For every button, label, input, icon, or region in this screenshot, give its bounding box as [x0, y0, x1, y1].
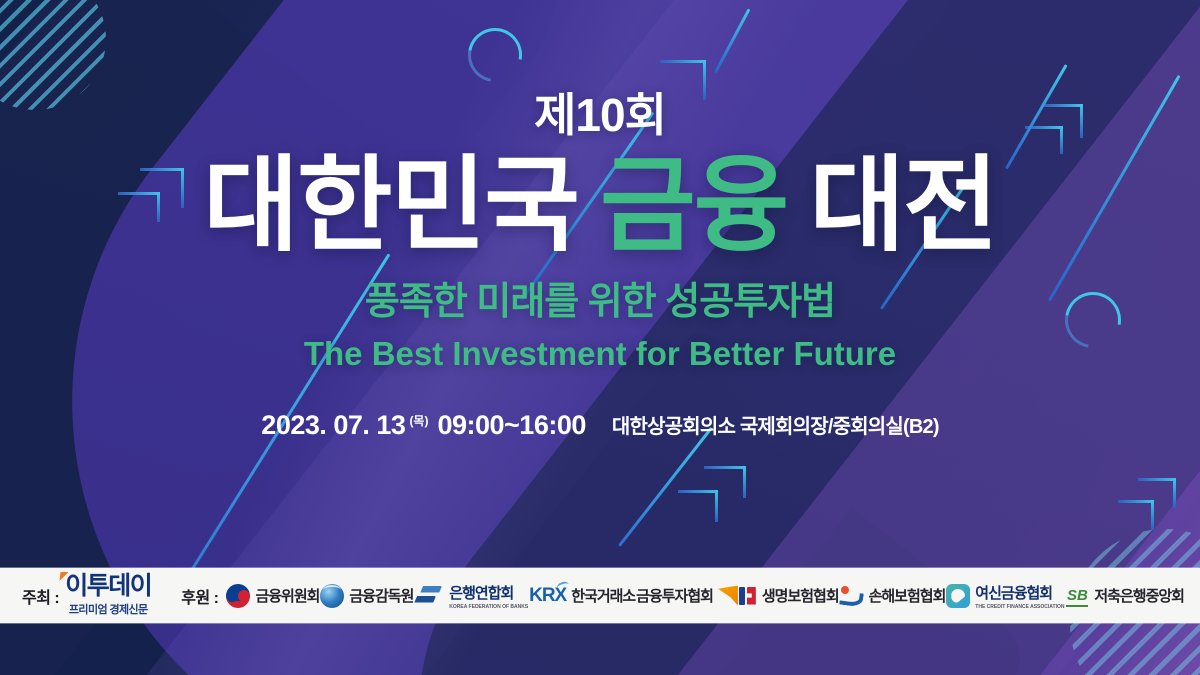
host-logo-ettoday[interactable]: 이투데이 프리미엄 경제신문 [65, 574, 151, 617]
subtitle-english: The Best Investment for Better Future [0, 337, 1200, 370]
sponsor-name: 금융감독원 [349, 585, 413, 606]
bracket-bottom-right-icon [1118, 474, 1180, 530]
sponsor-name: 은행연합회 [449, 585, 513, 602]
title-part-expo: 대전 [809, 152, 996, 261]
sponsor-krx[interactable]: KRX 한국거래소 [529, 585, 635, 607]
credit-finance-icon [946, 584, 970, 608]
sponsor-knia[interactable]: 손해보험협회 [840, 585, 946, 606]
taeguk-icon [226, 584, 250, 608]
sponsor-name: 한국거래소 [571, 585, 635, 606]
event-date: 2023. 07. 13 [261, 410, 405, 441]
krx-icon: KRX [529, 585, 566, 607]
sponsor-fsb[interactable]: SB 저축은행중앙회 [1065, 585, 1184, 607]
sponsor-name: 금융투자협회 [636, 585, 713, 606]
host-label: 주최 : [22, 584, 59, 608]
title-part-country: 대한민국 [203, 152, 578, 261]
sponsor-kofia[interactable]: 금융투자협회 [636, 585, 738, 606]
sponsor-crefia[interactable]: 여신금융협회 THE CREDIT FINANCE ASSOCIATION [946, 582, 1064, 610]
event-time: 09:00~16:00 [437, 410, 585, 441]
sb-wordmark: SB [1067, 586, 1088, 606]
host-accent-mark-icon [60, 572, 69, 581]
subtitle-korean: 풍족한 미래를 위한 성공투자법 [0, 283, 1200, 321]
arrow-icon [718, 586, 738, 606]
poster-content: 제10회 대한민국금융대전 풍족한 미래를 위한 성공투자법 The Best … [0, 0, 1200, 441]
page-title: 대한민국금융대전 [0, 152, 1200, 261]
sponsor-logo-list: 금융위원회 금융감독원 은행연합회 KOREA FEDERATION OF BA… [226, 582, 1184, 610]
sponsor-name: 저축은행중앙회 [1094, 585, 1184, 606]
sponsor-fss[interactable]: 금융감독원 [320, 584, 413, 608]
sponsor-label: 후원 : [181, 584, 218, 608]
sponsor-name: 손해보험협회 [869, 585, 946, 606]
sponsor-fsc[interactable]: 금융위원회 [226, 584, 319, 608]
sponsor-name: 여신금융협회 [975, 585, 1052, 602]
sponsor-name: 금융위원회 [255, 585, 319, 606]
event-poster: 제10회 대한민국금융대전 풍족한 미래를 위한 성공투자법 The Best … [0, 0, 1200, 675]
sponsor-name-en: KOREA FEDERATION OF BANKS [449, 604, 528, 610]
event-day-of-week: (목) [409, 412, 428, 429]
title-part-finance: 금융 [600, 152, 787, 261]
sponsor-name-en: THE CREDIT FINANCE ASSOCIATION [975, 604, 1064, 610]
host-name: 이투데이 [65, 574, 151, 599]
sponsor-bar: 주최 : 이투데이 프리미엄 경제신문 후원 : 금융위원회 금융감독원 [0, 568, 1200, 623]
general-insurance-icon [840, 586, 864, 606]
edition-label: 제10회 [0, 0, 1200, 138]
bank-federation-icon [414, 586, 444, 606]
krx-swoosh-icon [556, 580, 570, 591]
savings-bank-icon: SB [1065, 585, 1089, 607]
sponsor-kfb[interactable]: 은행연합회 KOREA FEDERATION OF BANKS [414, 582, 528, 610]
sponsor-name: 생명보험협회 [762, 585, 839, 606]
host-tagline: 프리미엄 경제신문 [69, 601, 148, 617]
life-insurance-icon [739, 587, 757, 605]
bracket-bottom-center-icon [678, 462, 748, 524]
sponsor-klia[interactable]: 생명보험협회 [739, 585, 839, 606]
event-venue: 대한상공회의소 국제회의장/중회의실(B2) [612, 410, 939, 439]
globe-icon [320, 584, 344, 608]
event-info-line: 2023. 07. 13 (목) 09:00~16:00 대한상공회의소 국제회… [0, 410, 1200, 441]
